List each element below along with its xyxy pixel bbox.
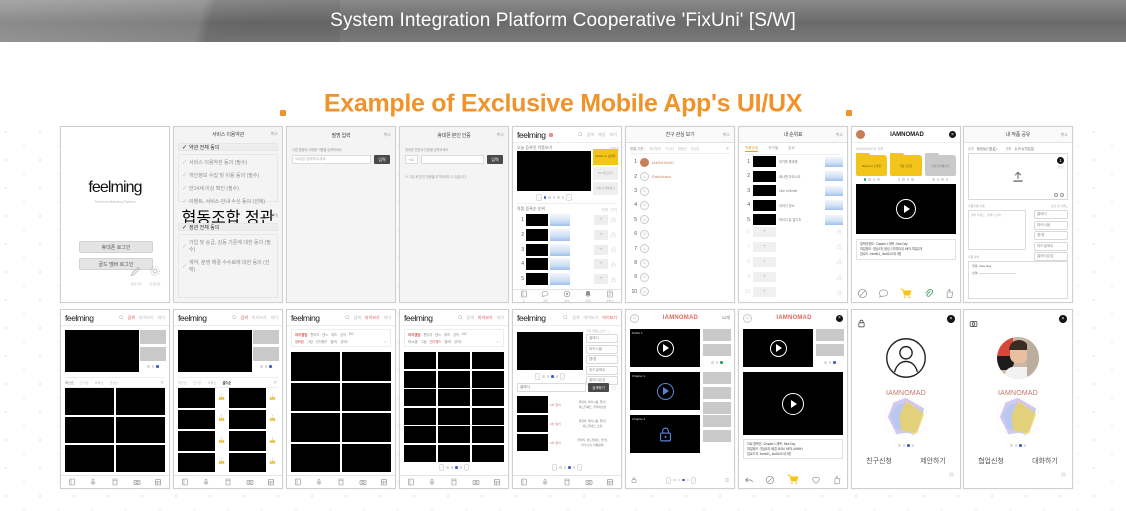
login-footer-icons[interactable]: 회원가입 환경설정 — [130, 264, 161, 286]
list-item[interactable]: 8☺ — [630, 256, 730, 270]
profile-dots[interactable] — [852, 444, 960, 447]
search-icon[interactable] — [232, 315, 237, 320]
tab-camera[interactable] — [359, 478, 367, 486]
search-icon[interactable] — [578, 132, 583, 137]
chip[interactable]: 성악2 — [340, 339, 348, 344]
grid-cell[interactable] — [65, 417, 114, 444]
ranking-locked-list[interactable]: 6+ 7+ 8+ 9+ 10+ — [743, 225, 843, 299]
grid-cell[interactable] — [404, 371, 436, 388]
screen-nickname[interactable]: 필명 입력 취소 다른 활동에 사용할 이름을 입력하세요. 닉네임 입력하주세… — [286, 126, 396, 303]
list-item[interactable]: 3☺ — [630, 184, 730, 198]
add-button[interactable]: + — [594, 259, 608, 269]
screen-login[interactable]: feelming Performer Matching Platform 휴대폰… — [60, 126, 170, 303]
friends-filter-0[interactable]: 최근방문 — [649, 146, 661, 151]
screen-ranking[interactable]: 내 순위표 취소 작품순위 작가별 장르 1자기를 좋아해 2화나면 아티스트 … — [738, 126, 848, 303]
chat-button[interactable]: 대화하기 — [1032, 456, 1058, 466]
grid-cell[interactable] — [229, 431, 266, 451]
table-row-locked[interactable]: 9+ — [743, 270, 843, 284]
menu-icon[interactable] — [1060, 465, 1067, 483]
sort-icon[interactable] — [160, 380, 165, 385]
carousel-next[interactable]: › — [566, 194, 571, 201]
player-dots[interactable] — [817, 361, 843, 364]
menu-search[interactable]: 검색 — [241, 315, 248, 321]
channel-dots-0[interactable] — [704, 361, 730, 364]
grid3-cells[interactable] — [404, 352, 504, 462]
table-row[interactable]: 2화나면 아티스트 — [743, 170, 843, 183]
add-button[interactable]: + — [594, 274, 608, 284]
search-icon[interactable] — [563, 315, 568, 320]
terms-agree-all-row[interactable]: ✓약관 전체 동의 — [178, 143, 278, 151]
feed-carousel-dots[interactable] — [141, 365, 165, 368]
result-row[interactable]: 2차 일치 클래식, 퍼커시움, 랩/힙,하드일렉트, 소울 — [517, 415, 617, 432]
add-button[interactable]: + — [753, 272, 776, 282]
list-item[interactable]: 4☺ — [630, 198, 730, 212]
keyword-2[interactable]: 랩/힙 — [586, 355, 618, 364]
search-bar-row[interactable]: 클래식 검색하기 — [517, 383, 617, 392]
list-item[interactable]: 10☺ — [630, 285, 730, 299]
screen-feed-grid3[interactable]: feelming 검색 마이보기 마이 마이앨범 판타지 댄스 재즈 성악 MC… — [399, 309, 509, 489]
friend-request-button[interactable]: 친구신청 — [866, 456, 892, 466]
chip-active[interactable]: 마이앨범 — [295, 332, 307, 337]
grid-cell[interactable] — [472, 389, 504, 406]
list-item[interactable]: 9☺ — [630, 270, 730, 284]
table-row-locked[interactable]: 10+ — [743, 285, 843, 299]
close-icon[interactable]: × — [1059, 315, 1067, 323]
profile-avatar[interactable] — [852, 337, 960, 379]
side-card-0[interactable]: Return to 모바일 — [593, 149, 618, 165]
keyword-1[interactable]: 퍼커시움 — [586, 345, 618, 354]
channel-card-0[interactable]: Public 1 — [630, 329, 700, 367]
chevron-down-icon[interactable] — [607, 330, 610, 333]
cart-icon[interactable] — [899, 287, 913, 300]
grid-cell[interactable] — [178, 388, 215, 408]
result-row[interactable]: 3차 일치 클래식, 하드일렉트, 팝/힙,어쿠스틱, 아름삼화 — [517, 434, 617, 451]
phone-auth-submit-button[interactable]: 입력 — [487, 155, 503, 164]
folder-2[interactable]: 더보기 전체보기 — [925, 155, 956, 176]
chip[interactable]: 재즈 — [331, 332, 337, 337]
screen-home[interactable]: feelming 검색 채널 마이 오늘 등록된 작품보기 더보기 Return… — [512, 126, 622, 303]
filter-3[interactable]: 관심순 — [109, 380, 118, 385]
side-card[interactable] — [816, 344, 844, 356]
heart-icon[interactable] — [811, 475, 821, 485]
screen-player[interactable]: ☺ IAMNOMAD × 자료 콜렉션 : Chapter 1 제목 : Nic… — [738, 309, 848, 489]
upload-icon[interactable] — [1011, 170, 1025, 184]
tab-calendar[interactable] — [380, 478, 388, 486]
terms-section2-item-list[interactable]: ✓가입 및 승급, 강등 기준에 대한 동의 (필수) ✓계약, 분쟁 해결 수… — [178, 234, 278, 298]
play-icon[interactable] — [896, 199, 916, 219]
list-item[interactable]: 2☺Radiokaka — [630, 169, 730, 183]
profile-media-folders[interactable]: Return to 모바일 작품 모음집 더보기 전체보기 — [856, 152, 956, 181]
share-description-input[interactable]: 컬러 키워드 · 분위기 선택 — [968, 210, 1026, 250]
chip[interactable]: 랩/락 — [330, 339, 337, 344]
add-button[interactable]: + — [594, 230, 608, 240]
menu-my[interactable]: 마이 — [497, 315, 504, 321]
grid-cell[interactable] — [404, 389, 436, 406]
feed-tabbar[interactable] — [61, 475, 169, 488]
tab-camera[interactable] — [246, 478, 254, 486]
tab-myinfo[interactable]: 내정보 — [606, 290, 614, 303]
feed-hero-media[interactable] — [65, 330, 139, 372]
menu-view[interactable]: 마이보기 — [252, 315, 267, 321]
chip[interactable]: 판타지 — [423, 332, 432, 337]
share-field1-value[interactable]: 동영상(기본값) — [977, 146, 997, 151]
keyword-0[interactable]: 클래식 — [586, 334, 618, 343]
grid-cell[interactable] — [438, 408, 470, 425]
filter-0[interactable]: 최신순 — [178, 380, 187, 385]
settings-action[interactable]: 환경설정 — [149, 264, 161, 286]
side-card[interactable] — [703, 430, 731, 442]
tab-genre[interactable]: 장르 — [788, 146, 795, 152]
grid-cell[interactable] — [438, 389, 470, 406]
search-icon[interactable] — [345, 315, 350, 320]
menu-search[interactable]: 검색 — [467, 315, 474, 321]
chip[interactable]: 재즈 — [444, 332, 450, 337]
chevron-down-icon[interactable] — [383, 340, 387, 344]
add-button[interactable]: + — [753, 227, 776, 237]
grid-cell[interactable] — [472, 371, 504, 388]
grid-cell[interactable] — [116, 388, 165, 415]
phone-auth-input-row[interactable]: +82 입력 — [405, 155, 503, 164]
tag-0[interactable]: 클래식 — [1034, 210, 1068, 219]
ranking-cancel-button[interactable]: 취소 — [836, 132, 843, 138]
table-row-locked[interactable]: 6+ — [743, 225, 843, 239]
like-icon[interactable] — [832, 475, 842, 485]
pager-prev[interactable]: ‹ — [439, 464, 444, 471]
friends-filter-1[interactable]: 가나다 — [665, 146, 674, 151]
chip[interactable]: 판타지 — [310, 332, 319, 337]
grid-cell[interactable] — [472, 445, 504, 462]
attach-icon[interactable] — [923, 288, 934, 299]
carousel-prev[interactable]: ‹ — [536, 194, 541, 201]
grid-cell[interactable] — [291, 352, 340, 381]
grid-cell[interactable] — [342, 352, 391, 381]
grid3-pager[interactable]: ‹ › — [400, 464, 508, 471]
tab-camera[interactable] — [472, 478, 480, 486]
lock-icon[interactable] — [857, 315, 866, 333]
play-icon[interactable] — [657, 383, 674, 400]
feed-side-cards[interactable] — [140, 330, 166, 361]
filter-1[interactable]: 인기순 — [80, 380, 89, 385]
lock-icon[interactable] — [657, 426, 674, 443]
tab-mic[interactable] — [428, 478, 436, 486]
screen-profile-collab[interactable]: × IAMNOMAD 협업신청 — [963, 309, 1073, 489]
grid-cell[interactable] — [438, 426, 470, 443]
grid-cell[interactable] — [404, 352, 436, 369]
menu-view[interactable]: 마이보기 — [365, 315, 380, 321]
filter-1[interactable]: 인기순 — [193, 380, 202, 385]
grid-cell[interactable] — [229, 453, 266, 473]
tab-artists[interactable]: 작가별 — [768, 146, 778, 152]
folder-1[interactable]: 작품 모음집 — [890, 155, 921, 176]
chip[interactable]: 성악 — [340, 332, 346, 337]
upload-dropzone[interactable]: 1 업로드 — [968, 153, 1068, 200]
share-option-row[interactable]: 공개 동영상(기본값) 권한 누구나(기본값) — [968, 146, 1068, 151]
grid-cell[interactable] — [404, 426, 436, 443]
video-player[interactable] — [856, 184, 956, 234]
menu-icon[interactable] — [724, 477, 730, 483]
side-card-0[interactable] — [140, 330, 166, 344]
search-icon[interactable] — [458, 315, 463, 320]
chip[interactable]: 성악 — [453, 332, 459, 337]
tab-camera[interactable] — [133, 478, 141, 486]
menu-search[interactable]: 검색 — [128, 315, 135, 321]
grid-cell[interactable] — [404, 445, 436, 462]
terms-section2-agree-all-row[interactable]: ✓정관 전체 동의 — [178, 223, 278, 231]
play-icon[interactable] — [782, 393, 804, 415]
tab-mic[interactable] — [89, 478, 97, 486]
side-card[interactable] — [703, 415, 731, 427]
profile-media-actions[interactable] — [852, 287, 960, 300]
side-card[interactable] — [816, 329, 844, 341]
country-code-field[interactable]: +82 — [405, 155, 418, 164]
search-icon[interactable] — [119, 315, 124, 320]
chip[interactable]: 영화음 — [295, 339, 304, 344]
menu-my[interactable]: 마이 — [384, 315, 391, 321]
friends-filter-2[interactable]: 활동순 — [678, 146, 687, 151]
grid-cell[interactable] — [404, 408, 436, 425]
nickname-cancel-button[interactable]: 취소 — [384, 132, 391, 138]
tab-calendar[interactable] — [606, 478, 614, 486]
lock-icon[interactable] — [630, 476, 638, 484]
block-icon[interactable] — [857, 288, 868, 299]
channel-footer[interactable]: ‹› — [630, 476, 730, 484]
grid3-tabbar[interactable] — [400, 475, 508, 488]
screen-phone-auth[interactable]: 휴대폰 본인 인증 취소 휴대폰 번호와 인증을 입력하세요. +82 입력 ※… — [399, 126, 509, 303]
phone-auth-cancel-button[interactable]: 취소 — [497, 132, 504, 138]
list-item[interactable]: 5☺ — [630, 213, 730, 227]
profile-actions[interactable]: 협업신청 대화하기 — [964, 456, 1072, 466]
cart-icon[interactable] — [786, 473, 800, 486]
grid-cell[interactable] — [438, 371, 470, 388]
grid2-tabbar[interactable] — [287, 475, 395, 488]
screen-share[interactable]: 내 작품 공유 취소 공개 동영상(기본값) 권한 누구나(기본값) 1 업로드… — [963, 126, 1073, 303]
screen-profile-friend[interactable]: × IAMNOMAD 친구신청 제안하기 — [851, 309, 961, 489]
grid-cell[interactable] — [178, 410, 215, 430]
grid-cell[interactable] — [229, 388, 266, 408]
tab-channel[interactable]: 채널 — [563, 290, 571, 303]
grid-cell[interactable] — [116, 417, 165, 444]
chip[interactable]: 댄스 — [435, 332, 441, 337]
menu-view[interactable]: 마이보기 — [584, 315, 599, 321]
channel-side-cards-1[interactable] — [703, 372, 731, 414]
menu-channel[interactable]: 채널 — [598, 132, 605, 138]
feed-filter-row[interactable]: 최신순 인기순 조회순 관심순 — [65, 377, 165, 388]
propose-button[interactable]: 제안하기 — [920, 456, 946, 466]
filter-3[interactable]: 골드순 — [222, 380, 231, 385]
grid-cell[interactable] — [291, 383, 340, 412]
list-item[interactable]: 7☺ — [630, 241, 730, 255]
chip[interactable]: MC — [349, 332, 354, 337]
tab-home[interactable] — [407, 478, 415, 486]
grid-cell[interactable] — [178, 431, 215, 451]
play-icon[interactable] — [657, 340, 674, 357]
tab-book[interactable] — [337, 478, 345, 486]
screen-friends[interactable]: 친구 관심 보기 취소 정렬 기준 : 최근방문 가나다 활동순 관심순 1IA… — [625, 126, 735, 303]
grid-cell[interactable] — [229, 410, 266, 430]
nickname-input-row[interactable]: 닉네임 입력하주세요 입력 — [292, 155, 390, 164]
tab-alert[interactable]: 알림 — [584, 290, 592, 303]
channel-card-2[interactable]: Chapter 2 — [630, 415, 700, 453]
profile-avatar[interactable] — [964, 337, 1072, 379]
upload-controls[interactable] — [1054, 193, 1064, 197]
chip[interactable]: 성악2 — [454, 339, 462, 344]
ranking-tabs[interactable]: 작품순위 작가별 장르 — [745, 146, 841, 155]
tab-home[interactable] — [520, 478, 528, 486]
home-side-cards[interactable]: Return to 모바일 PC 바로가기 더보기 전체보기 — [593, 149, 618, 195]
play-icon[interactable] — [770, 340, 787, 357]
tab-mic[interactable] — [315, 478, 323, 486]
tag-2[interactable]: 랩/힙 — [1034, 231, 1068, 240]
grid-cell[interactable] — [178, 453, 215, 473]
signup-action[interactable]: 회원가입 — [130, 264, 142, 286]
add-button[interactable]: + — [753, 287, 776, 297]
search-hero-media[interactable] — [517, 332, 583, 370]
tag-1[interactable]: 퍼커시움 — [1034, 221, 1068, 230]
profile-dots[interactable] — [964, 444, 1072, 447]
pager-next[interactable]: › — [577, 464, 582, 471]
feed-filter-row[interactable]: 최신순 인기순 조회순 골드순 — [178, 377, 278, 388]
player-actions[interactable] — [739, 473, 847, 486]
feed-carousel-dots[interactable] — [254, 365, 278, 368]
side-card-1[interactable]: PC 바로가기 — [593, 167, 618, 180]
rank-row[interactable]: 1 + — [517, 213, 617, 226]
home-hero-media[interactable] — [517, 151, 591, 191]
table-row-locked[interactable]: 7+ — [743, 240, 843, 254]
ranking-list[interactable]: 1자기를 좋아해 2화나면 아티스트 3Like a Monet 4아이디 멋소… — [743, 155, 843, 226]
tab-chat[interactable]: 대화 — [541, 290, 549, 303]
table-row[interactable]: 1자기를 좋아해 — [743, 155, 843, 168]
chip[interactable]: 그림 — [307, 339, 313, 344]
share-field2-value[interactable]: 누구나(기본값) — [1014, 146, 1034, 151]
channel-side-cards-0[interactable] — [703, 329, 731, 356]
chip[interactable]: 인디밴드 — [430, 339, 442, 344]
screen-search-result[interactable]: feelming 검색 마이보기 마이보기 추천 키워드 보기 클래식 퍼커시움… — [512, 309, 622, 489]
add-button[interactable]: + — [594, 215, 608, 225]
chip[interactable]: 인디밴드 — [316, 339, 328, 344]
terms-item-list[interactable]: ✓서비스 이용약관 동의 (필수) ✓개인정보 수집 및 이용 동의 (필수) … — [178, 154, 278, 202]
tab-home[interactable] — [181, 478, 189, 486]
tab-calendar[interactable] — [493, 478, 501, 486]
chip[interactable]: MC — [462, 332, 467, 337]
friends-filter-3[interactable]: 관심순 — [691, 146, 700, 151]
folder-0[interactable]: Return to 모바일 — [856, 155, 887, 176]
tab-home[interactable] — [294, 478, 302, 486]
side-card[interactable] — [703, 387, 731, 399]
menu-view[interactable]: 마이보기 — [139, 315, 154, 321]
close-icon[interactable]: × — [836, 315, 843, 322]
home-rank-list[interactable]: 1 + 2 + 3 + 4 + — [517, 213, 617, 286]
side-card-1[interactable] — [140, 347, 166, 361]
search-input[interactable]: 클래식 — [517, 383, 586, 392]
player-side-cards[interactable] — [816, 329, 844, 356]
friends-cancel-button[interactable]: 취소 — [723, 132, 730, 138]
grid-cell[interactable] — [472, 352, 504, 369]
avatar[interactable]: ☺ — [743, 314, 752, 323]
share-info-box[interactable]: 제목 Nice Day 설명 — [968, 261, 1068, 299]
grid-cell[interactable] — [116, 445, 165, 472]
side-card-2[interactable]: 더보기 전체보기 — [593, 182, 618, 195]
search-carousel-dots[interactable]: ‹ › — [517, 373, 583, 380]
tab-home[interactable] — [68, 478, 76, 486]
tag-3[interactable]: 하드일렉트 — [1034, 242, 1068, 251]
list-item[interactable]: 1IAMNOMAD — [630, 155, 730, 169]
channel-side-cards-2[interactable] — [703, 415, 731, 442]
tab-mic[interactable] — [202, 478, 210, 486]
comment-icon[interactable] — [878, 288, 889, 299]
tab-mic[interactable] — [541, 478, 549, 486]
player-preview[interactable] — [743, 329, 813, 367]
tab-works[interactable]: 작품순위 — [745, 146, 758, 152]
result-row[interactable]: 1차 일치 클래식, 퍼커시움, 랩/힙,하드일렉트, 클래식감성 — [517, 396, 617, 413]
side-card-0[interactable] — [253, 330, 279, 344]
grid2-chip-panel[interactable]: 마이앨범 판타지 댄스 재즈 성악 MC 영화음 그림 인디밴드 랩/락 성악2 — [291, 329, 391, 347]
chip[interactable]: 락/소울 — [408, 339, 418, 344]
pager-prev[interactable]: ‹ — [552, 464, 557, 471]
search-results-list[interactable]: 1차 일치 클래식, 퍼커시움, 랩/힙,하드일렉트, 클래식감성 2차 일치 … — [517, 396, 617, 451]
side-card[interactable] — [703, 372, 731, 384]
menu-search[interactable]: 검색 — [572, 315, 579, 321]
chevron-down-icon[interactable] — [496, 340, 500, 344]
close-icon[interactable]: × — [947, 315, 955, 323]
back-icon[interactable] — [744, 475, 754, 485]
pager-next[interactable]: › — [464, 464, 469, 471]
grid-cell[interactable] — [65, 388, 114, 415]
list-item[interactable]: 6☺ — [630, 227, 730, 241]
grid-cell[interactable] — [65, 445, 114, 472]
feed-gold-tabbar[interactable] — [174, 475, 282, 488]
video-player[interactable] — [743, 372, 843, 435]
grid3-chip-panel[interactable]: 마이앨범 판타지 댄스 재즈 성악 MC 락/소울 그림 인디밴드 랩/락 성악… — [404, 329, 504, 347]
grid-cell[interactable] — [291, 444, 340, 473]
rank-row[interactable]: 3 + — [517, 243, 617, 256]
feed-hero-media[interactable] — [178, 330, 252, 372]
table-row-locked[interactable]: 8+ — [743, 255, 843, 269]
screen-channel[interactable]: ☺ IAMNOMAD 12개 Public 1 Chapter 1 Chapte… — [625, 309, 735, 489]
grid2-cells[interactable] — [291, 352, 391, 472]
screen-profile-media[interactable]: IAMNOMAD × IAMNOMAD의 작품 Return to 모바일 작품… — [851, 126, 961, 303]
screen-feed-gold[interactable]: feelming 검색 마이보기 마이 최신순 인기순 조회순 골드순 — [173, 309, 283, 489]
chip-row-2[interactable]: 락/소울 그림 인디밴드 랩/락 성악2 — [408, 339, 500, 344]
feed-side-cards[interactable] — [253, 330, 279, 361]
grid-cell[interactable] — [472, 408, 504, 425]
tab-calendar[interactable] — [154, 478, 162, 486]
close-icon[interactable]: × — [949, 131, 956, 138]
tag-4[interactable]: 클래식감성 — [1034, 252, 1068, 261]
phone-login-button[interactable]: 휴대폰 로그인 — [79, 241, 153, 253]
share-cancel-button[interactable]: 취소 — [1061, 132, 1068, 138]
menu-search[interactable]: 검색 — [354, 315, 361, 321]
chip[interactable]: 댄스 — [322, 332, 328, 337]
tab-home[interactable]: 홈 — [520, 290, 528, 303]
tab-book[interactable] — [563, 478, 571, 486]
table-row[interactable]: 3Like a Monet — [743, 184, 843, 197]
home-tabbar[interactable]: 홈 대화 채널 알림 내정보 — [513, 289, 621, 302]
chip[interactable]: 랩/락 — [444, 339, 451, 344]
menu-my[interactable]: 마이보기 — [602, 315, 617, 321]
chip-row-2[interactable]: 영화음 그림 인디밴드 랩/락 성악2 — [295, 339, 387, 344]
pager-prev[interactable]: ‹ — [666, 477, 671, 484]
nickname-submit-button[interactable]: 입력 — [374, 155, 390, 164]
menu-my[interactable]: 마이 — [158, 315, 165, 321]
menu-view[interactable]: 마이보기 — [478, 315, 493, 321]
collab-request-button[interactable]: 협업신청 — [978, 456, 1004, 466]
grid-cell[interactable] — [342, 444, 391, 473]
filter-0[interactable]: 최신순 — [65, 380, 74, 385]
screen-terms[interactable]: 서비스 이용약관 취소 ✓약관 전체 동의 ✓서비스 이용약관 동의 (필수) … — [173, 126, 283, 303]
chip-row-1[interactable]: 마이앨범 판타지 댄스 재즈 성악 MC — [295, 332, 387, 337]
terms-cancel-button[interactable]: 취소 — [271, 131, 278, 137]
menu-my[interactable]: 마이 — [271, 315, 278, 321]
